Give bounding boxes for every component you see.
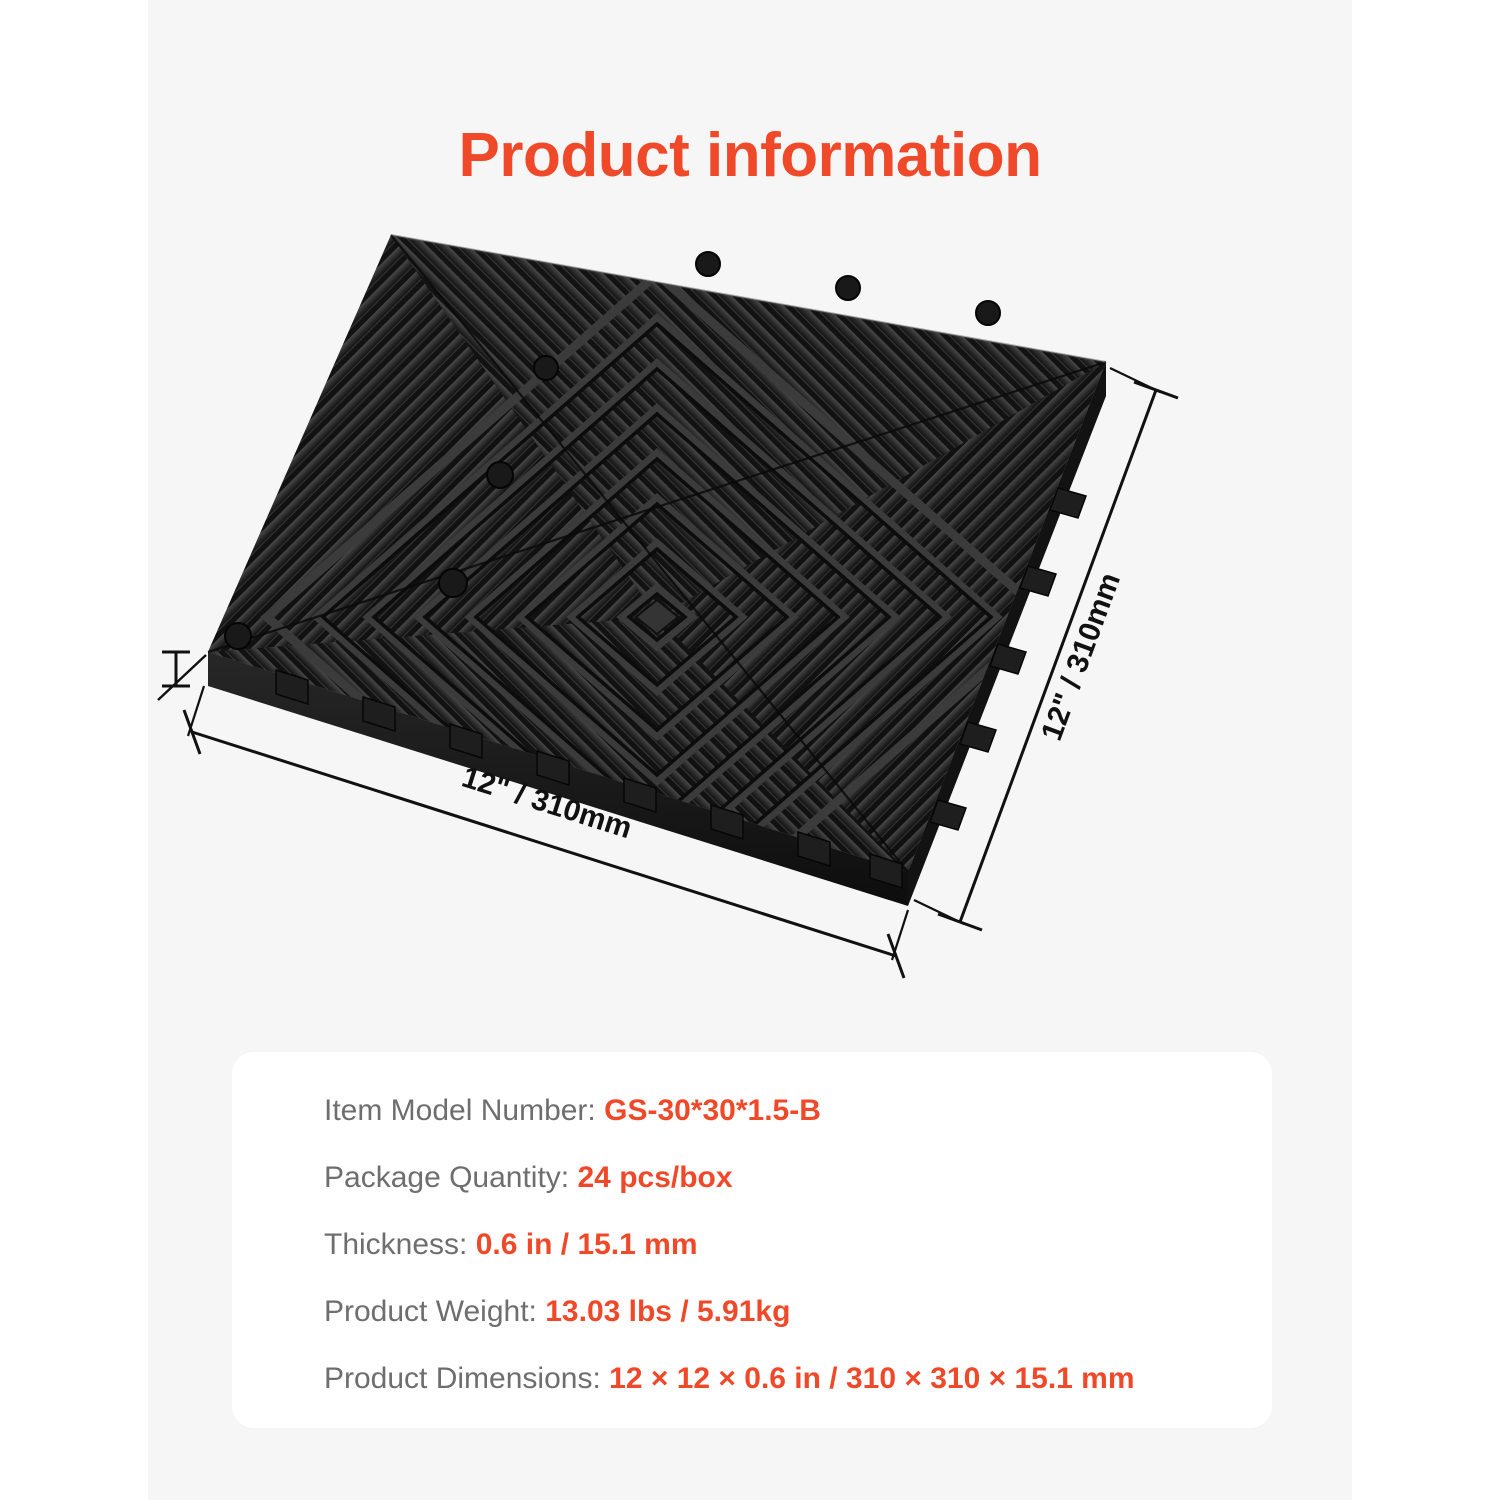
product-hero-image: 12" / 310mm 12" / 310mm bbox=[148, 200, 1352, 1020]
spec-row-model-number: Item Model Number: GS-30*30*1.5-B bbox=[324, 1096, 1242, 1126]
spec-row-product-dimensions: Product Dimensions: 12 × 12 × 0.6 in / 3… bbox=[324, 1364, 1242, 1394]
spec-list: Item Model Number: GS-30*30*1.5-B Packag… bbox=[324, 1096, 1242, 1394]
spec-row-product-weight: Product Weight: 13.03 lbs / 5.91kg bbox=[324, 1297, 1242, 1327]
spec-row-thickness: Thickness: 0.6 in / 15.1 mm bbox=[324, 1230, 1242, 1260]
spec-value: 24 pcs/box bbox=[578, 1161, 733, 1194]
spec-label: Product Weight: bbox=[324, 1295, 537, 1328]
content-panel: Product information bbox=[148, 0, 1352, 1500]
spec-row-package-quantity: Package Quantity: 24 pcs/box bbox=[324, 1163, 1242, 1193]
spec-value: 13.03 lbs / 5.91kg bbox=[545, 1295, 790, 1328]
spec-value: 0.6 in / 15.1 mm bbox=[476, 1228, 698, 1261]
spec-label: Item Model Number: bbox=[324, 1094, 596, 1127]
spec-value: 12 × 12 × 0.6 in / 310 × 310 × 15.1 mm bbox=[609, 1362, 1134, 1395]
tile-body bbox=[148, 200, 1352, 1020]
spec-label: Product Dimensions: bbox=[324, 1362, 601, 1395]
spec-value: GS-30*30*1.5-B bbox=[604, 1094, 821, 1127]
spec-label: Package Quantity: bbox=[324, 1161, 569, 1194]
spec-card: Item Model Number: GS-30*30*1.5-B Packag… bbox=[232, 1052, 1272, 1428]
spec-label: Thickness: bbox=[324, 1228, 467, 1261]
product-information-page: Product information bbox=[0, 0, 1500, 1500]
page-title: Product information bbox=[148, 120, 1352, 191]
thickness-dimension-callout bbox=[158, 652, 206, 700]
